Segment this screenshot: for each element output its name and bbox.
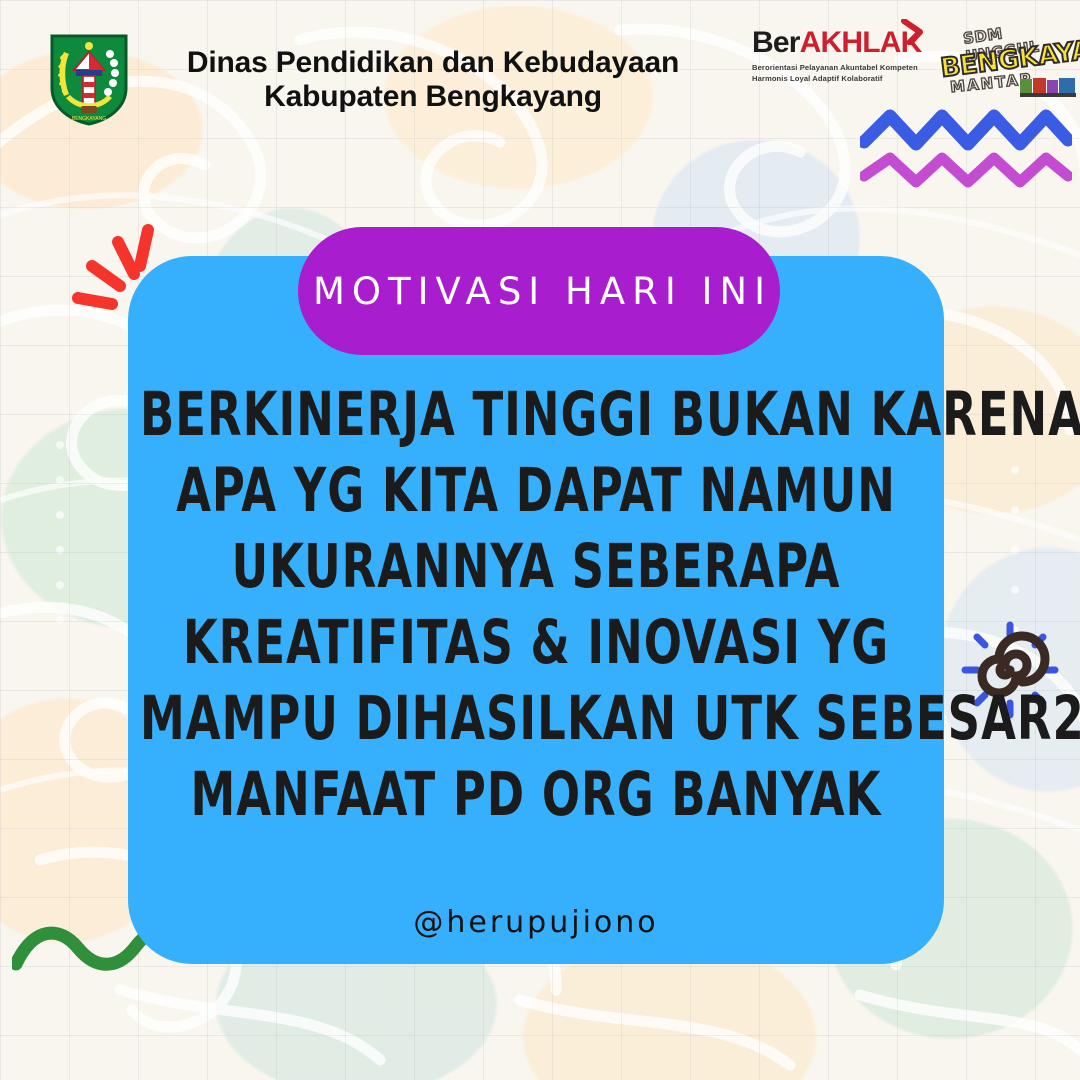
quote-text: BERKINERJA TINGGI BUKAN KARENA APA YG KI… [140, 368, 932, 824]
badge-label: MOTIVASI HARI INI [306, 270, 772, 313]
sdm-unggul-bengkayang-logo: SDM UNGGUL BENGKAYANG MANTAP [940, 22, 1075, 106]
chevron-right-icon [900, 19, 926, 45]
dept-title-line2: Kabupaten Bengkayang [148, 80, 718, 114]
berakhlak-tagline: Berorientasi Pelayanan Akuntabel Kompete… [752, 63, 927, 85]
svg-text:BENGKAYANG: BENGKAYANG [72, 116, 106, 122]
berakhlak-logo: BerAKHLAK Berorientasi Pelayanan Akuntab… [752, 28, 927, 85]
berakhlak-tagline-line1: Berorientasi Pelayanan Akuntabel Kompete… [752, 63, 927, 74]
berakhlak-tagline-line2: Harmonis Loyal Adaptif Kolaboratif [752, 74, 927, 85]
footer-logo-bar: MERDEKA BELAJAR Merdeka Mengajar GEMBIRA… [0, 975, 1080, 1070]
quote-line: MANFAAT PD ORG BANYAK [140, 748, 932, 841]
zigzag-decoration [860, 100, 1072, 200]
berakhlak-prefix: Ber [752, 26, 800, 59]
page-title: Dinas Pendidikan dan Kebudayaan Kabupate… [148, 46, 718, 113]
sdm-logo-photostrip-icon [1020, 77, 1076, 97]
bengkayang-regency-crest-icon: BENGKAYANG [48, 30, 130, 126]
dept-title-line1: Dinas Pendidikan dan Kebudayaan [148, 46, 718, 80]
author-handle: @herupujiono [140, 905, 932, 940]
motivation-poster: BENGKAYANG Dinas Pendidikan dan Kebudaya… [0, 0, 1080, 1080]
status-badge: MOTIVASI HARI INI [298, 227, 780, 355]
berakhlak-wordmark: BerAKHLAK [752, 28, 927, 58]
